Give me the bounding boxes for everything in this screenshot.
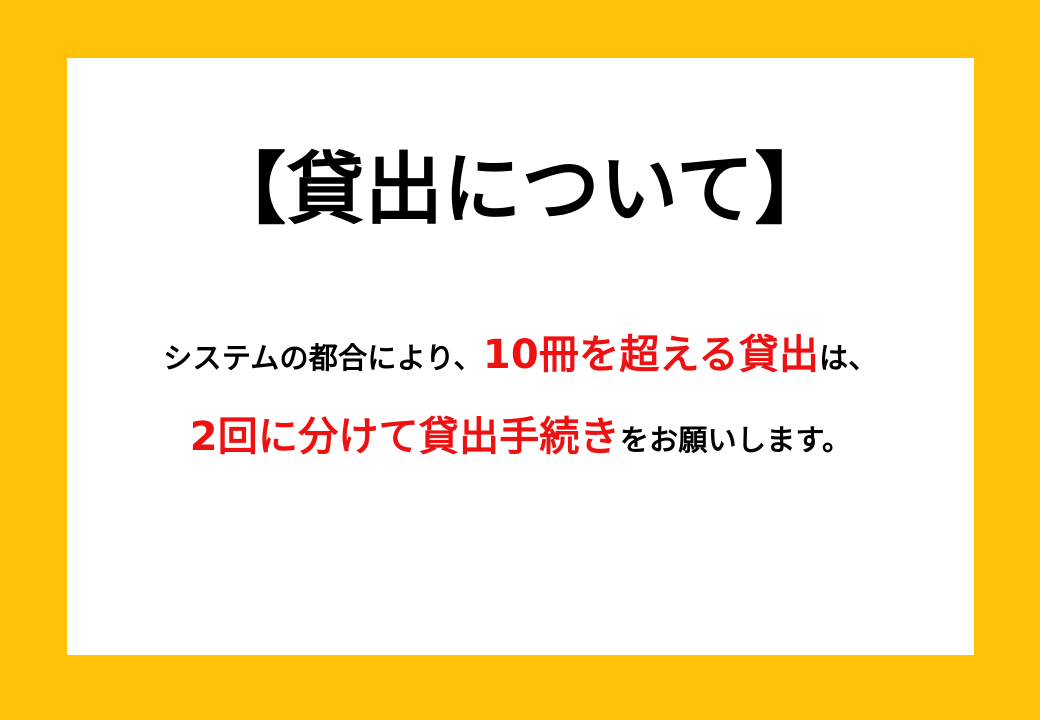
notice-line-1: システムの都合により、10冊を超える貸出は、 (67, 330, 974, 380)
notice-line-1-lead-text: システムの都合により、 (163, 341, 483, 375)
page-title: 【貸出について】 (208, 150, 833, 232)
notice-line-2-emphasis-text: 2回に分けて貸出手続き (190, 414, 620, 460)
notice-body: システムの都合により、10冊を超える貸出は、 2回に分けて貸出手続きをお願いしま… (67, 330, 974, 462)
poster-canvas: 【貸出について】 システムの都合により、10冊を超える貸出は、 2回に分けて貸出… (0, 0, 1040, 720)
page-title-row: 【貸出について】 (67, 150, 974, 232)
notice-line-1-emphasis-text: 10冊を超える貸出 (483, 332, 819, 378)
notice-line-1-trail-text: は、 (819, 341, 878, 375)
notice-line-2: 2回に分けて貸出手続きをお願いします。 (67, 412, 974, 462)
notice-card: 【貸出について】 システムの都合により、10冊を超える貸出は、 2回に分けて貸出… (67, 58, 974, 655)
notice-line-2-trail-text: をお願いします。 (620, 423, 851, 457)
